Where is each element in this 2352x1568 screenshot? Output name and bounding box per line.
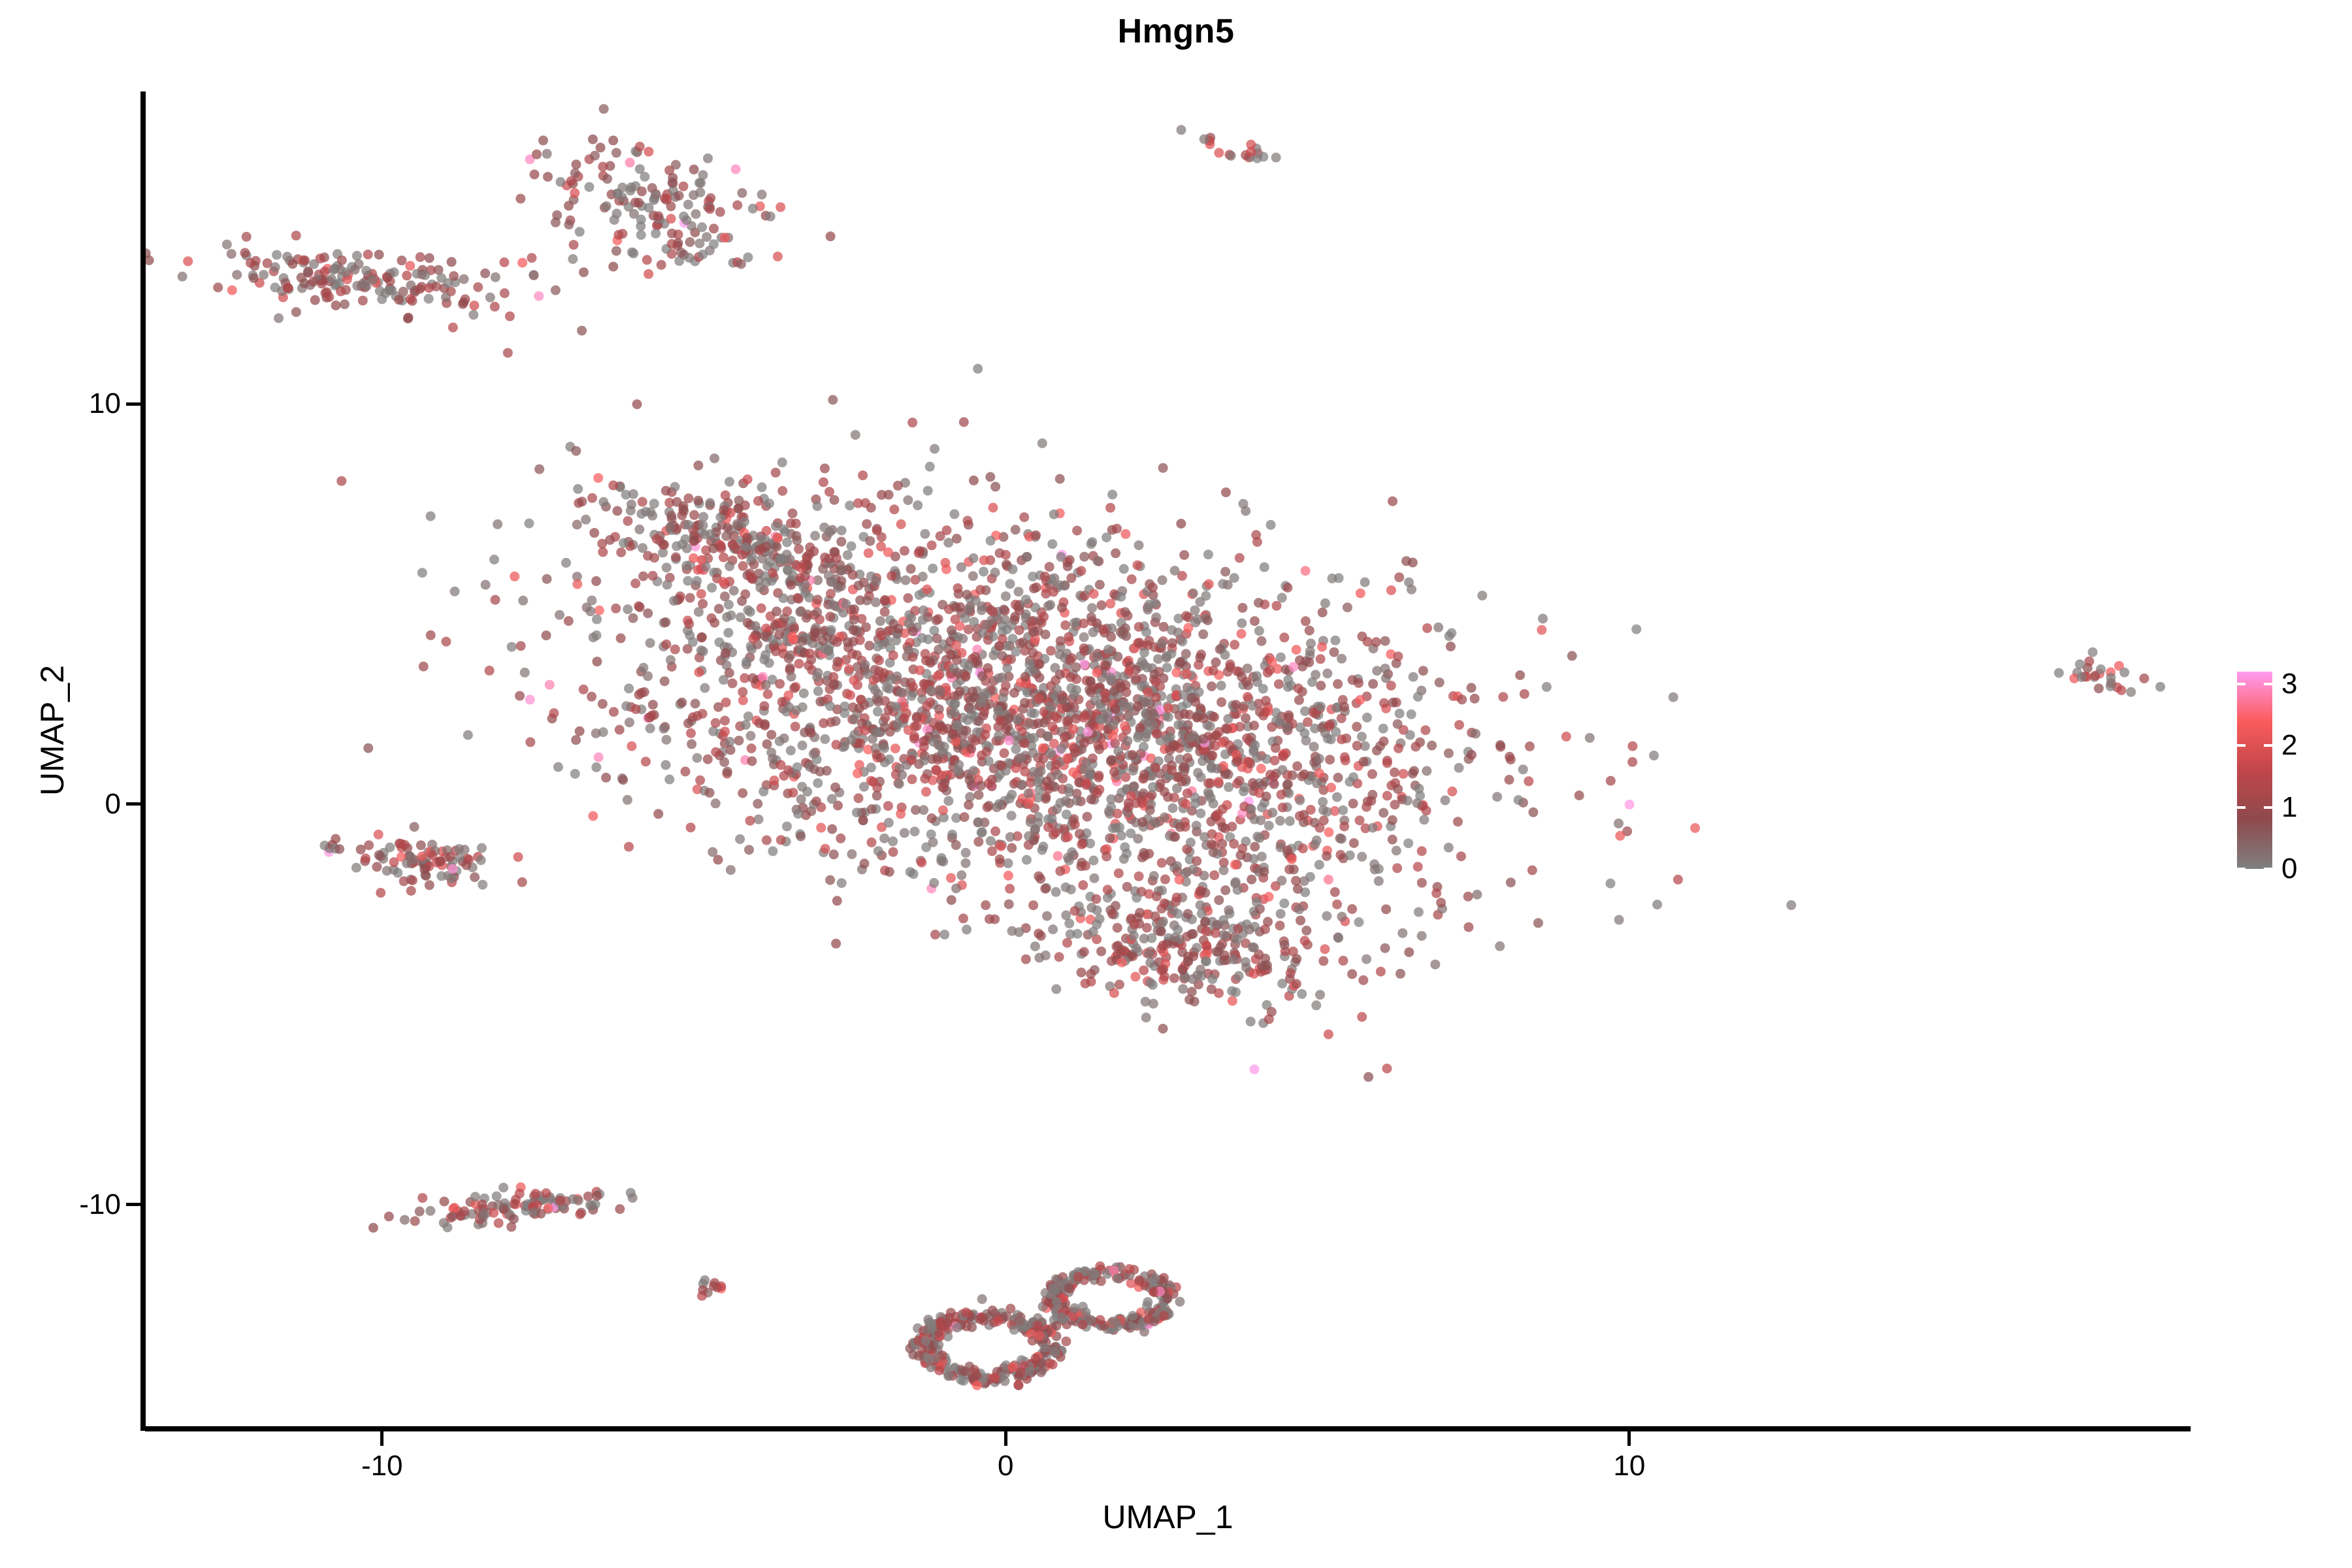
page-title: Hmgn5: [0, 12, 2352, 51]
legend-label-0: 0: [2281, 855, 2297, 883]
umap-feature-plot: Hmgn5 10 0 -10 -10 0 10 UMAP_1 UMAP_2 3 …: [0, 0, 2352, 1568]
x-axis-title: UMAP_1: [145, 1499, 2191, 1535]
y-tick-mark: [126, 402, 140, 406]
colorbar-tick: [2237, 744, 2246, 747]
y-tick-mark: [126, 802, 140, 806]
x-tick-mark: [380, 1431, 384, 1446]
colorbar-tick: [2264, 806, 2272, 809]
colorbar-tick: [2237, 806, 2246, 809]
y-tick-mark: [126, 1203, 140, 1206]
legend-label-3: 3: [2281, 670, 2297, 698]
color-legend: 3 2 1 0: [2237, 672, 2342, 874]
colorbar-tick: [2264, 868, 2272, 870]
x-tick-mark: [1004, 1431, 1007, 1446]
x-tick-mark: [1627, 1431, 1631, 1446]
colorbar-tick: [2264, 744, 2272, 747]
scatter-points-layer: [145, 91, 2191, 1429]
y-tick-label-10: 10: [0, 389, 121, 418]
colorbar: [2237, 672, 2272, 869]
colorbar-tick: [2264, 683, 2272, 685]
y-axis-title: UMAP_2: [34, 547, 71, 913]
x-tick-label-neg10: -10: [310, 1452, 454, 1480]
colorbar-tick: [2237, 868, 2246, 870]
legend-label-2: 2: [2281, 731, 2297, 760]
plot-panel: [145, 91, 2191, 1429]
colorbar-tick: [2237, 683, 2246, 685]
legend-label-1: 1: [2281, 793, 2297, 822]
y-tick-label-neg10: -10: [0, 1190, 121, 1219]
colorbar-gradient: [2237, 672, 2272, 869]
y-axis-line: [140, 91, 146, 1431]
x-tick-label-10: 10: [1558, 1452, 1701, 1480]
x-axis-line: [145, 1426, 2191, 1431]
x-tick-label-0: 0: [934, 1452, 1077, 1480]
